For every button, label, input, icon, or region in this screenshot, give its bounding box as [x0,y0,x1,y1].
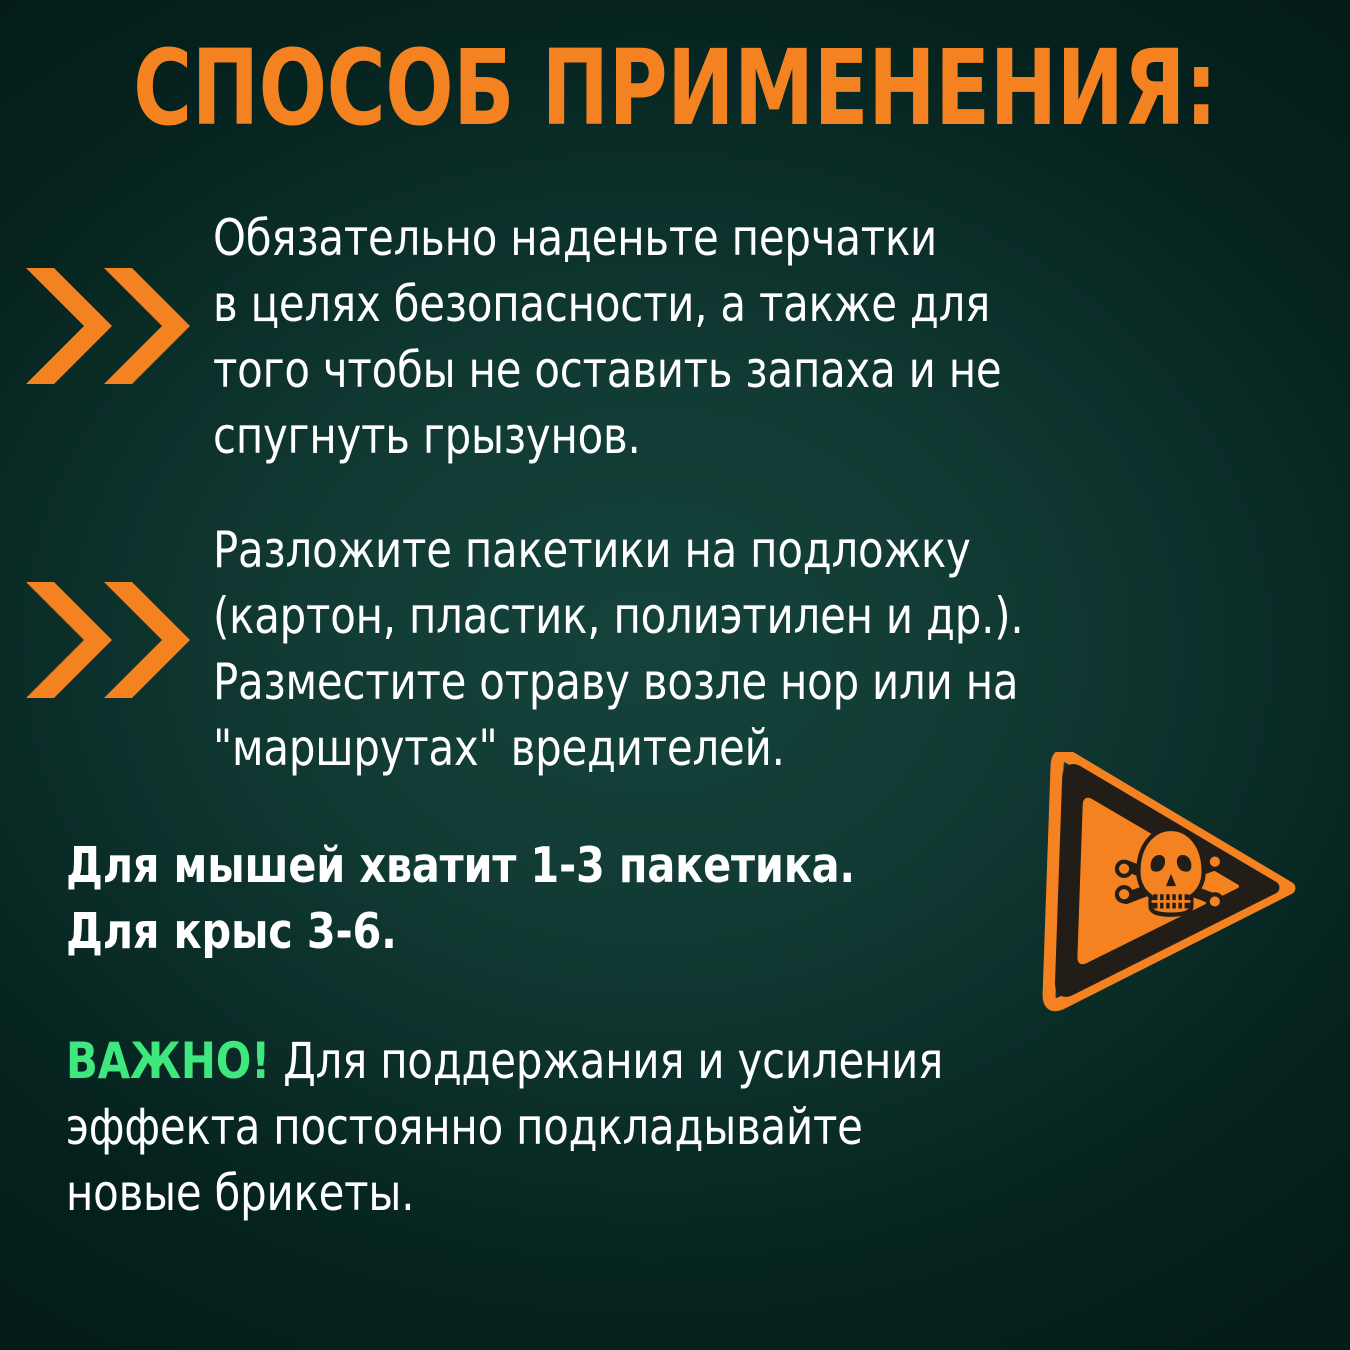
double-chevron-right-icon [24,268,192,384]
double-chevron-right-icon [24,582,192,698]
page-title: СПОСОБ ПРИМЕНЕНИЯ: [95,36,1256,140]
dosage-text: Для мышей хватит 1-3 пакетика. Для крыс … [66,833,1006,965]
important-keyword: ВАЖНО! [66,1032,270,1090]
step-text-1: Обязательно наденьте перчатки в целях бе… [213,205,1152,469]
step-text-2: Разложите пакетики на подложку (картон, … [213,517,1180,781]
poster-root: СПОСОБ ПРИМЕНЕНИЯ: Обязательно наденьте … [0,0,1350,1350]
important-note: ВАЖНО! Для поддержания и усиления эффект… [66,1028,1108,1226]
skull-and-crossbones-hazard-triangle-icon [1035,752,1307,1016]
